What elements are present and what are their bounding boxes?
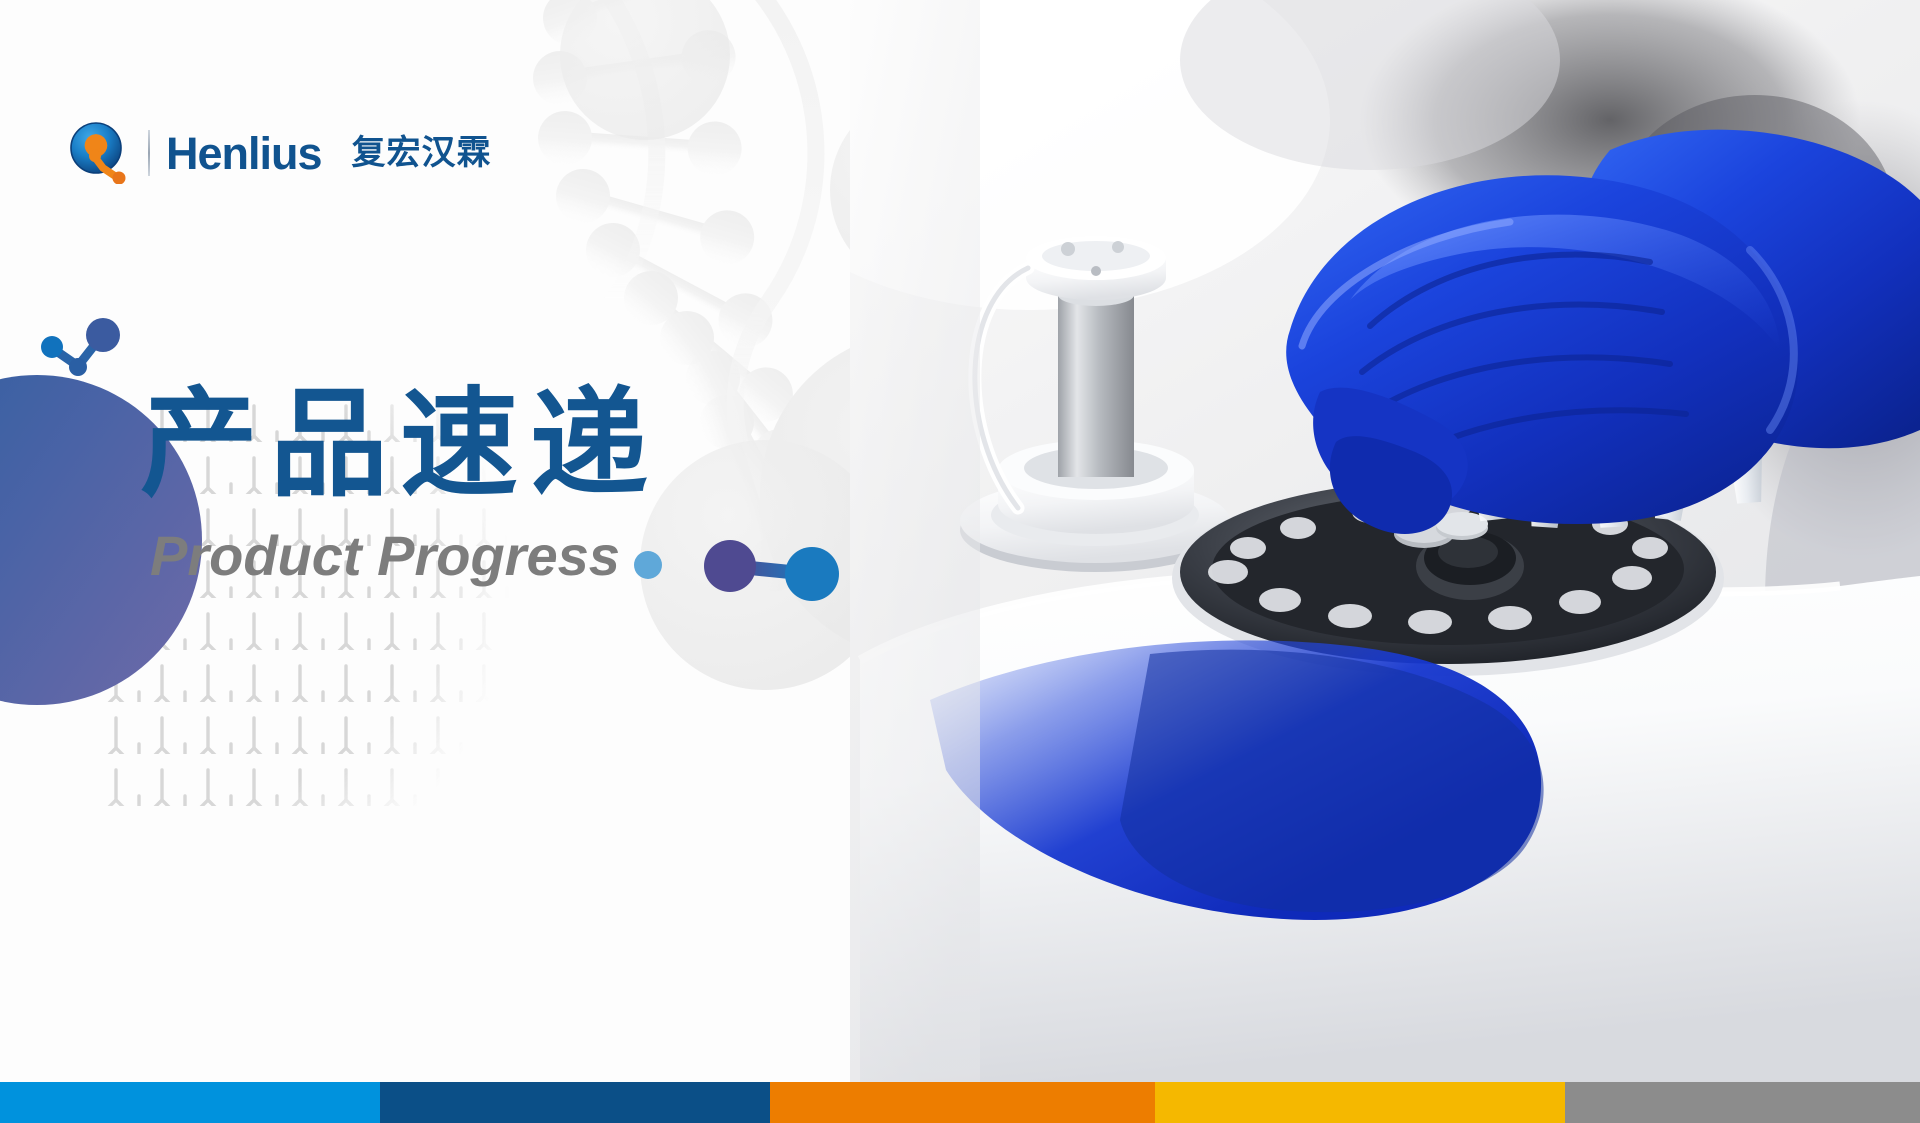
colorbar-segment-cyan-blue [0, 1082, 380, 1123]
page-subtitle-en: Product Progress [150, 528, 620, 584]
molecule-icon-middle [700, 540, 840, 602]
henlius-molecule-logo-icon [70, 122, 128, 184]
slide-canvas: Henlius 复宏汉霖 产品速递 Product Progress [0, 0, 1920, 1123]
logo-divider [148, 130, 150, 176]
lab-photo [850, 0, 1920, 1082]
colorbar-segment-dark-navy [380, 1082, 770, 1123]
bottom-color-bar [0, 1082, 1920, 1123]
colorbar-segment-gold [1155, 1082, 1565, 1123]
logo-name-en: Henlius [166, 131, 322, 176]
page-title-cn: 产品速递 [140, 378, 660, 510]
accent-dot [634, 551, 662, 579]
bg-blob-decoration [560, 0, 730, 140]
colorbar-segment-grey [1565, 1082, 1920, 1123]
colorbar-segment-orange [770, 1082, 1155, 1123]
logo-name-cn: 复宏汉霖 [352, 136, 492, 170]
brand-logo[interactable]: Henlius 复宏汉霖 [70, 122, 492, 184]
